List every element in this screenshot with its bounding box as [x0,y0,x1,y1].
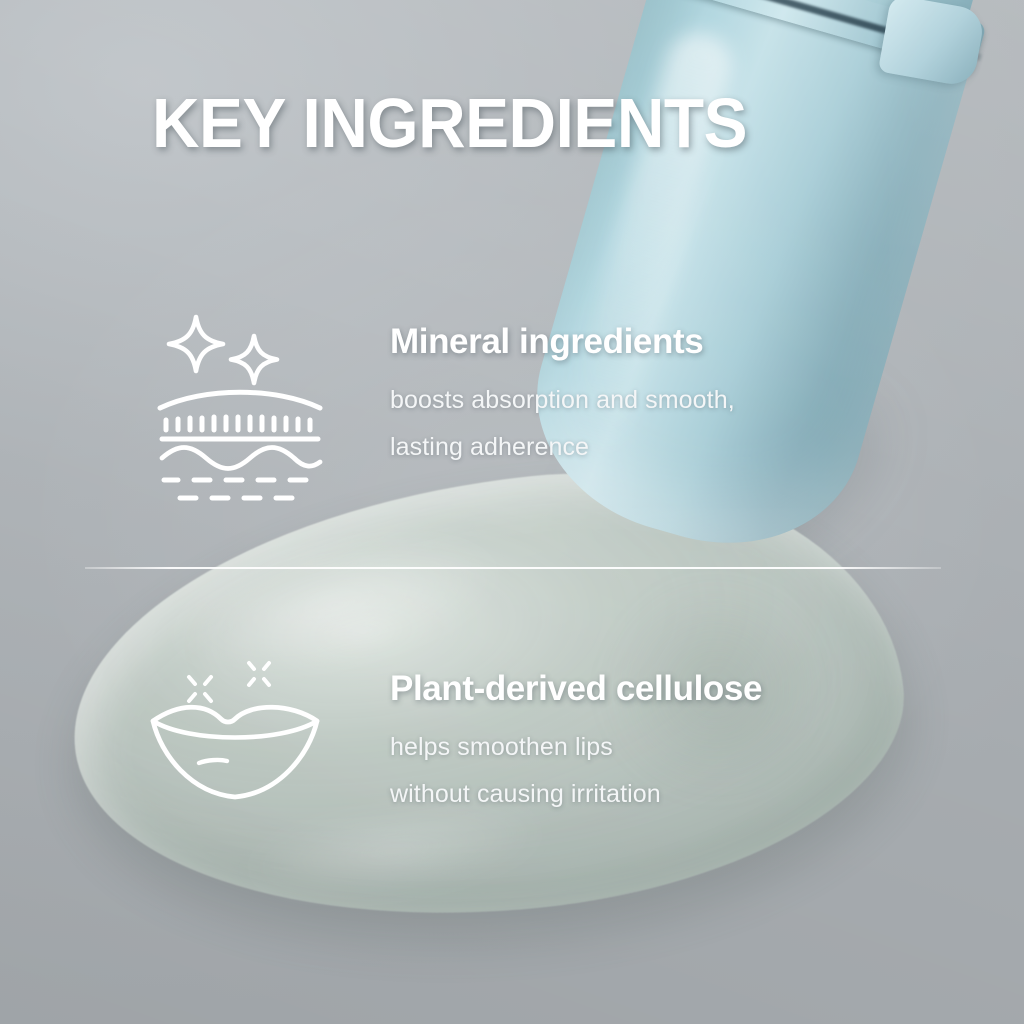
feature-description: helps smoothen lips without causing irri… [390,724,762,817]
feature-description-line: helps smoothen lips [390,724,762,771]
feature-title: Plant-derived cellulose [390,669,762,708]
feature-description-line: without causing irritation [390,771,762,818]
feature-text-block: Mineral ingredients boosts absorption an… [390,300,735,470]
poster-canvas: KEY INGREDIENTS [0,0,1024,1024]
feature-title: Mineral ingredients [390,322,735,361]
feature-text-block: Plant-derived cellulose helps smoothen l… [390,655,762,817]
feature-row-mineral-ingredients: Mineral ingredients boosts absorption an… [145,300,735,480]
skin-layers-sparkle-icon [145,300,335,480]
feature-description-line: lasting adherence [390,424,735,471]
section-divider [85,567,941,569]
feature-description-line: boosts absorption and smooth, [390,377,735,424]
feature-row-plant-derived-cellulose: Plant-derived cellulose helps smoothen l… [140,655,762,819]
lips-smile-sparkle-icon [140,655,330,819]
page-title: KEY INGREDIENTS [152,88,747,158]
feature-description: boosts absorption and smooth, lasting ad… [390,377,735,470]
